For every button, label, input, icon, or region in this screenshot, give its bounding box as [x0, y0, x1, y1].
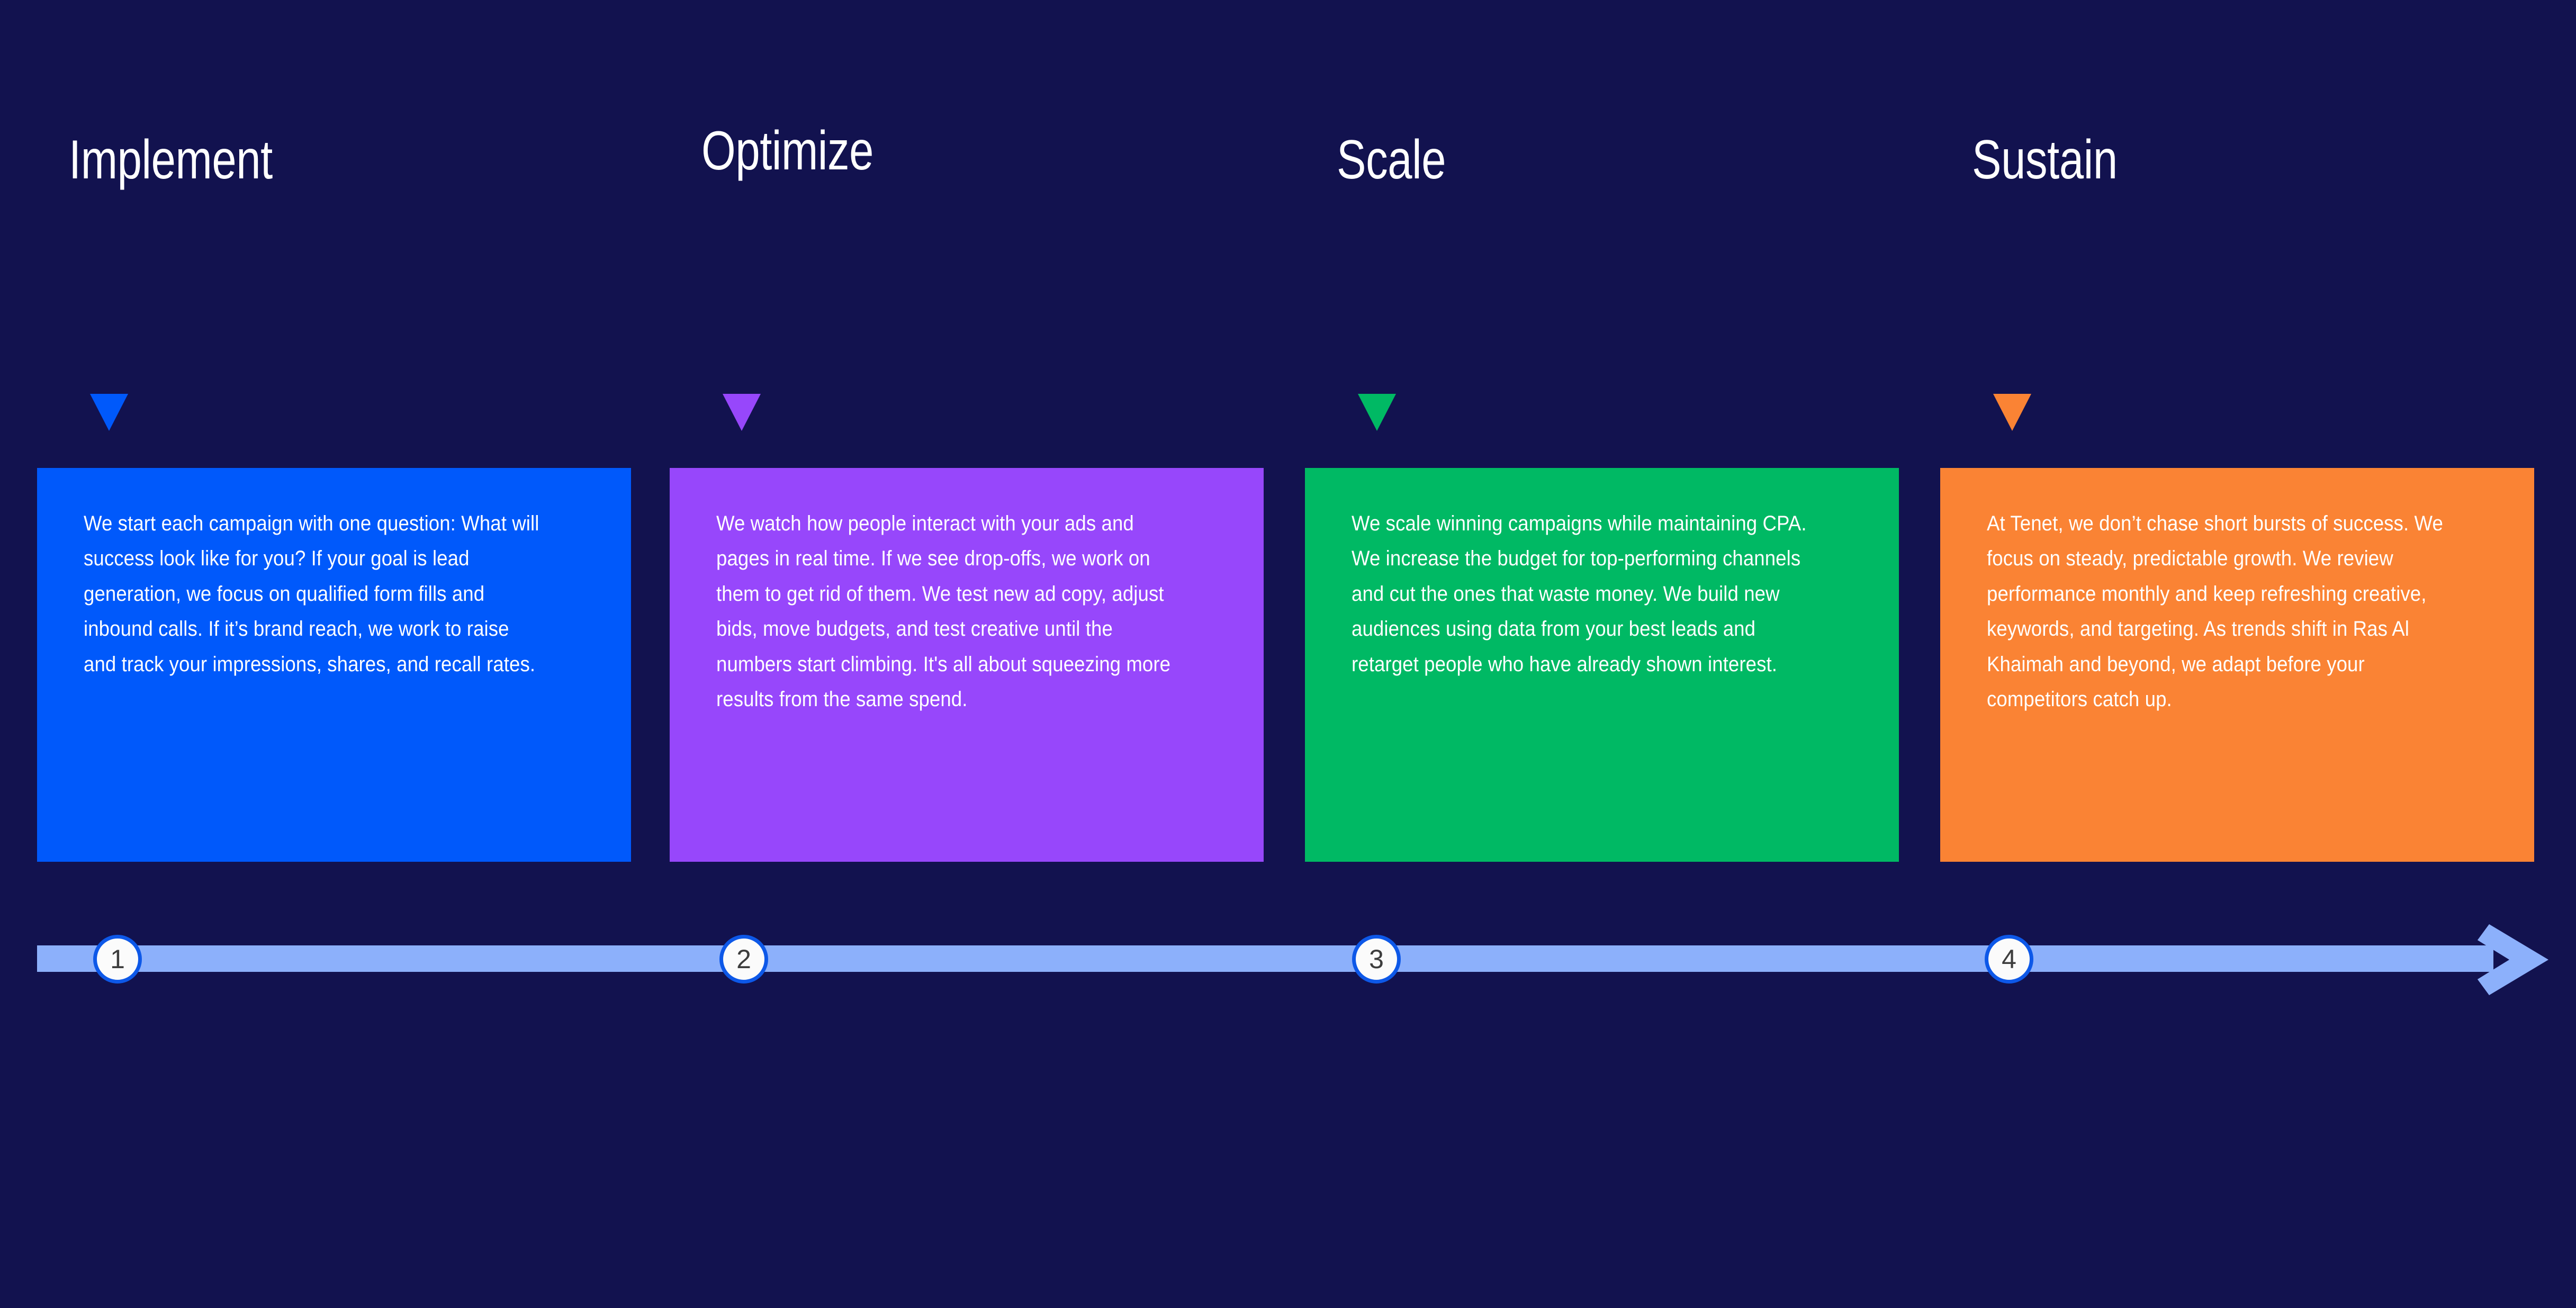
card-pointer-sustain [1993, 394, 2031, 431]
right-arrow-icon [2473, 920, 2553, 999]
timeline-marker-label: 2 [736, 946, 751, 972]
step-body-scale: We scale winning campaigns while maintai… [1352, 506, 1810, 682]
timeline-marker-label: 3 [1369, 946, 1384, 972]
timeline-marker-2[interactable]: 2 [719, 935, 768, 984]
timeline: 1 2 3 4 [0, 935, 2576, 1030]
step-title-optimize: Optimize [701, 123, 873, 178]
step-body-optimize: We watch how people interact with your a… [716, 506, 1175, 717]
step-card-sustain[interactable]: At Tenet, we don’t chase short bursts of… [1940, 468, 2534, 862]
step-card-scale[interactable]: We scale winning campaigns while maintai… [1305, 468, 1899, 862]
step-title-sustain: Sustain [1972, 132, 2118, 187]
card-pointer-implement [90, 394, 128, 431]
timeline-marker-label: 4 [2002, 946, 2016, 972]
timeline-marker-label: 1 [110, 946, 125, 972]
step-title-implement: Implement [69, 132, 273, 187]
step-card-optimize[interactable]: We watch how people interact with your a… [670, 468, 1264, 862]
step-card-implement[interactable]: We start each campaign with one question… [37, 468, 631, 862]
infographic-canvas: Implement We start each campaign with on… [0, 0, 2576, 1308]
step-title-scale: Scale [1337, 132, 1446, 187]
step-body-implement: We start each campaign with one question… [84, 506, 542, 682]
card-pointer-optimize [723, 394, 761, 431]
timeline-marker-1[interactable]: 1 [93, 935, 142, 984]
card-pointer-scale [1358, 394, 1396, 431]
timeline-marker-3[interactable]: 3 [1352, 935, 1401, 984]
step-body-sustain: At Tenet, we don’t chase short bursts of… [1987, 506, 2445, 717]
timeline-track [37, 945, 2493, 972]
timeline-marker-4[interactable]: 4 [1985, 935, 2033, 984]
